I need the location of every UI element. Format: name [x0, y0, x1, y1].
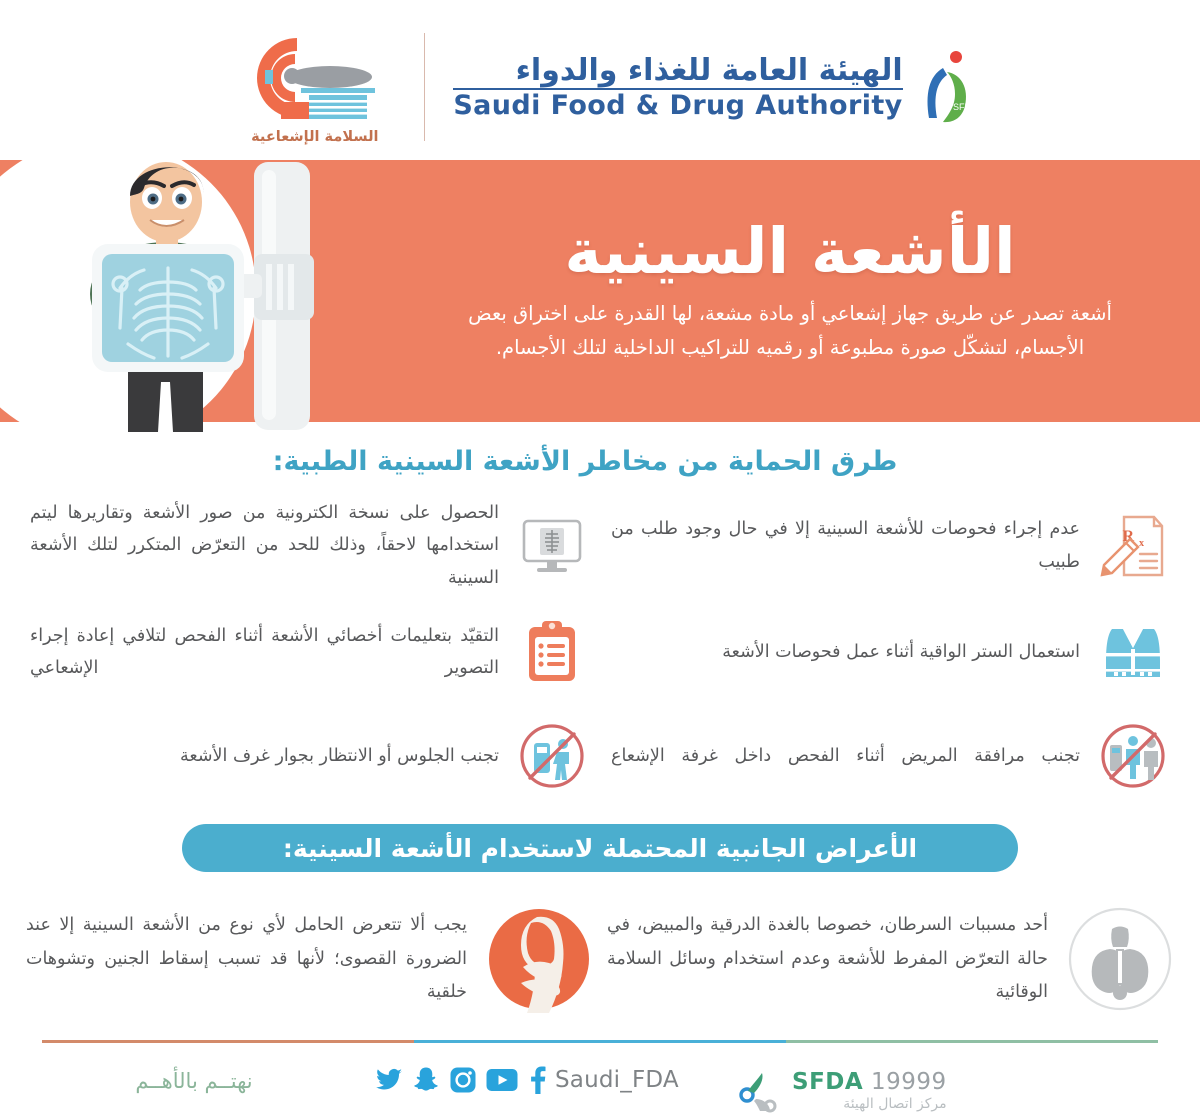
- contact-line: SFDA 19999: [792, 1069, 947, 1095]
- side-effects-grid: أحد مسببات السرطان، خصوصا بالغدة الدرقية…: [0, 894, 1200, 1024]
- sfda-logo: الهيئة العامة للغذاء والدواء Saudi Food …: [453, 48, 972, 126]
- side-effects-section-heading: الأعراض الجانبية المحتملة لاستخدام الأشع…: [182, 824, 1018, 872]
- sfda-name-arabic: الهيئة العامة للغذاء والدواء: [516, 54, 903, 88]
- tip-text: الحصول على نسخة الكترونية من صور الأشعة …: [30, 497, 499, 594]
- clipboard-checklist-icon: [515, 615, 589, 689]
- radiation-safety-logo: السلامة الإشعاعية: [227, 30, 402, 145]
- tip-text: التقيّد بتعليمات أخصائي الأشعة أثناء الف…: [30, 620, 499, 685]
- social-handle[interactable]: Saudi_FDA: [555, 1067, 679, 1093]
- protection-section-heading: طرق الحماية من مخاطر الأشعة السينية الطب…: [0, 446, 1200, 477]
- social-links[interactable]: Saudi_FDA: [374, 1061, 704, 1095]
- monitor-xray-icon: [515, 509, 589, 583]
- no-companion-icon: [1096, 719, 1170, 793]
- sfda-contact-icon: [734, 1065, 782, 1113]
- svg-text:x: x: [1139, 538, 1144, 549]
- tip-item: تجنب الجلوس أو الانتظار بجوار غرف الأشعة: [26, 704, 593, 808]
- side-effect-text: يجب ألا تتعرض الحامل لأي نوع من الأشعة ا…: [26, 909, 467, 1009]
- hero-subtitle: أشعة تصدر عن طريق جهاز إشعاعي أو مادة مش…: [410, 297, 1170, 365]
- tip-text: تجنب مرافقة المريض أثناء الفحص داخل غرفة…: [611, 740, 1080, 772]
- contact-subtitle: مركز اتصال الهيئة: [792, 1096, 947, 1112]
- side-effect-text: أحد مسببات السرطان، خصوصا بالغدة الدرقية…: [607, 909, 1048, 1009]
- sfda-wordmark: الهيئة العامة للغذاء والدواء Saudi Food …: [453, 54, 902, 121]
- facebook-icon[interactable]: [526, 1065, 548, 1095]
- divider-segment-orange: [42, 1040, 414, 1043]
- tip-text: استعمال الستر الواقية أثناء عمل فحوصات ا…: [611, 636, 1080, 668]
- tip-item: التقيّد بتعليمات أخصائي الأشعة أثناء الف…: [26, 600, 593, 704]
- prescription-icon: R x: [1096, 509, 1170, 583]
- tip-item: R x عدم إجراء فحوصات للأشعة السينية إلا …: [607, 491, 1174, 600]
- contact-number: 19999: [871, 1069, 947, 1095]
- hero-banner: الأشعة السينية أشعة تصدر عن طريق جهاز إش…: [0, 160, 1200, 422]
- sfda-emblem-icon: SFDA: [913, 48, 973, 126]
- contact-brand: SFDA: [792, 1069, 863, 1095]
- side-effect-item: يجب ألا تتعرض الحامل لأي نوع من الأشعة ا…: [26, 894, 593, 1024]
- divider-segment-green: [786, 1040, 1158, 1043]
- tip-item: تجنب مرافقة المريض أثناء الفحص داخل غرفة…: [607, 704, 1174, 808]
- ct-scanner-icon: [235, 30, 395, 125]
- side-effect-item: أحد مسببات السرطان، خصوصا بالغدة الدرقية…: [607, 894, 1174, 1024]
- pregnancy-icon: [485, 905, 593, 1013]
- instagram-icon[interactable]: [448, 1065, 478, 1095]
- sfda-emblem-label: SFDA: [953, 102, 973, 112]
- footer-divider: [42, 1040, 1158, 1043]
- no-waiting-icon: [515, 719, 589, 793]
- thyroid-icon: [1066, 905, 1174, 1013]
- sfda-name-english: Saudi Food & Drug Authority: [453, 92, 902, 120]
- tip-text: تجنب الجلوس أو الانتظار بجوار غرف الأشعة: [30, 740, 499, 772]
- patient-xray-illustration: [58, 132, 378, 432]
- header-divider: [424, 33, 425, 141]
- protection-tips-grid: R x عدم إجراء فحوصات للأشعة السينية إلا …: [0, 491, 1200, 808]
- twitter-icon[interactable]: [374, 1065, 404, 1095]
- youtube-icon[interactable]: [485, 1065, 519, 1095]
- page-footer: نهتــم بالأهــم Saudi_FDA: [0, 1043, 1200, 1113]
- snapchat-icon[interactable]: [411, 1065, 441, 1095]
- contact-words: SFDA 19999 مركز اتصال الهيئة: [792, 1065, 947, 1112]
- hero-text-block: الأشعة السينية أشعة تصدر عن طريق جهاز إش…: [410, 217, 1170, 366]
- divider-segment-blue: [414, 1040, 786, 1043]
- tip-text: عدم إجراء فحوصات للأشعة السينية إلا في ح…: [611, 513, 1080, 578]
- tip-item: الحصول على نسخة الكترونية من صور الأشعة …: [26, 491, 593, 600]
- footer-slogan: نهتــم بالأهــم: [44, 1061, 344, 1093]
- tip-item: استعمال الستر الواقية أثناء عمل فحوصات ا…: [607, 600, 1174, 704]
- contact-block: SFDA 19999 مركز اتصال الهيئة: [734, 1061, 947, 1113]
- page-title: الأشعة السينية: [410, 217, 1170, 288]
- lead-apron-icon: [1096, 615, 1170, 689]
